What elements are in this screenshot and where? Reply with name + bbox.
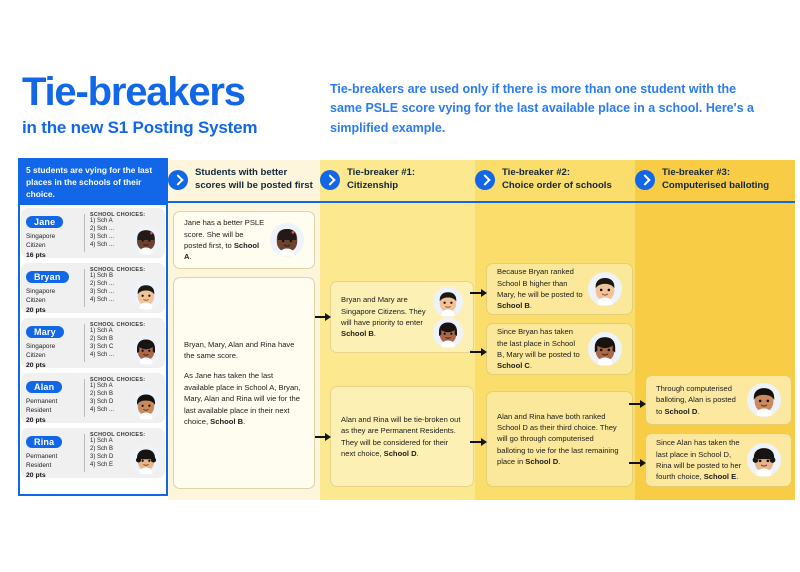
- student-identity: Mary Singapore Citizen 20 pts: [26, 322, 84, 364]
- arrow-shaft: [470, 441, 481, 442]
- box-rina-school-e: Since Alan has taken the last place in S…: [645, 433, 792, 487]
- text-segment: .: [530, 361, 532, 370]
- text-segment: Since Bryan has taken the last place in …: [497, 327, 580, 359]
- arrow-head: [640, 459, 646, 467]
- student-status-line1: Singapore: [26, 343, 55, 350]
- column-header-3-line2: Choice order of schools: [502, 180, 612, 191]
- student-name-badge: Mary: [26, 326, 64, 338]
- text-segment: .: [697, 407, 699, 416]
- box-mary-school-c: Since Bryan has taken the last place in …: [486, 323, 633, 375]
- avatar-rina: [747, 443, 781, 477]
- box-citizens-priority-text: Bryan and Mary are Singapore Citizens. T…: [341, 294, 429, 340]
- chevron-right-icon: [635, 170, 655, 190]
- arrow-shaft: [629, 462, 640, 463]
- divider: [84, 214, 85, 252]
- student-status-line1: Permanent: [26, 398, 57, 405]
- arrow-head: [325, 313, 331, 321]
- arrow-shaft: [315, 436, 325, 437]
- divider: [84, 269, 85, 307]
- student-status: Singapore Citizen: [26, 343, 84, 360]
- text-segment: .: [736, 472, 738, 481]
- student-points: 20 pts: [26, 307, 84, 314]
- avatar-jane: [270, 223, 304, 257]
- box-bryan-school-b: Because Bryan ranked School B higher tha…: [486, 263, 633, 315]
- column-header-1: Students with better scores will be post…: [168, 163, 320, 197]
- student-status-line2: Citizen: [26, 297, 46, 304]
- school-highlight: School E: [704, 472, 737, 481]
- text-segment: .: [374, 329, 376, 338]
- box-bryan-school-b-text: Because Bryan ranked School B higher tha…: [497, 266, 584, 312]
- box-same-score: Bryan, Mary, Alan and Rina have the same…: [173, 277, 315, 489]
- student-choices: SCHOOL CHOICES: 1) Sch A 2) Sch B 3) Sch…: [90, 432, 160, 474]
- text-segment: .: [189, 252, 191, 261]
- avatar-mary: [588, 332, 622, 366]
- student-name-badge: Jane: [26, 216, 63, 228]
- column-header-4-label: Tie-breaker #3: Computerised balloting: [662, 167, 769, 193]
- avatar-rina: [131, 445, 161, 475]
- column-header-4: Tie-breaker #3: Computerised balloting: [635, 163, 795, 197]
- school-highlight: School C: [497, 361, 530, 370]
- student-status: Singapore Citizen: [26, 288, 84, 305]
- student-points: 20 pts: [26, 417, 84, 424]
- column-header-2-line1: Tie-breaker #1:: [347, 167, 415, 178]
- arrow-shaft: [470, 351, 481, 352]
- student-status-line2: Citizen: [26, 352, 46, 359]
- school-highlight: School D: [525, 457, 558, 466]
- arrow-head: [325, 433, 331, 441]
- student-card-rina: Rina Permanent Resident 20 pts SCHOOL CH…: [21, 428, 165, 478]
- divider: [84, 434, 85, 472]
- student-choices: SCHOOL CHOICES: 1) Sch B 2) Sch ... 3) S…: [90, 267, 160, 309]
- student-identity: Bryan Singapore Citizen 20 pts: [26, 267, 84, 309]
- student-name-badge: Bryan: [26, 271, 69, 283]
- box-mary-school-c-text: Since Bryan has taken the last place in …: [497, 326, 584, 372]
- student-choices: SCHOOL CHOICES: 1) Sch A 2) Sch B 3) Sch…: [90, 377, 160, 419]
- student-identity: Jane Singapore Citizen 16 pts: [26, 212, 84, 254]
- student-card-bryan: Bryan Singapore Citizen 20 pts SCHOOL CH…: [21, 263, 165, 313]
- column-header-3-label: Tie-breaker #2: Choice order of schools: [502, 167, 612, 193]
- box-citizens-priority: Bryan and Mary are Singapore Citizens. T…: [330, 281, 474, 353]
- student-card-alan: Alan Permanent Resident 20 pts SCHOOL CH…: [21, 373, 165, 423]
- column-header-1-line1: Students with better: [195, 167, 287, 178]
- column-header-3-line1: Tie-breaker #2:: [502, 167, 570, 178]
- student-choices: SCHOOL CHOICES: 1) Sch A 2) Sch B 3) Sch…: [90, 322, 160, 364]
- student-name-badge: Alan: [26, 381, 62, 393]
- column-header-2-label: Tie-breaker #1: Citizenship: [347, 167, 415, 193]
- school-highlight: School D: [664, 407, 697, 416]
- avatar-alan: [131, 390, 161, 420]
- paragraph-same-score: Bryan, Mary, Alan and Rina have the same…: [184, 339, 304, 362]
- text-segment: .: [417, 449, 419, 458]
- student-points: 20 pts: [26, 362, 84, 369]
- student-status-line2: Resident: [26, 462, 51, 469]
- arrow-head: [481, 289, 487, 297]
- students-callout: 5 students are vying for the last places…: [18, 158, 168, 205]
- student-card-mary: Mary Singapore Citizen 20 pts SCHOOL CHO…: [21, 318, 165, 368]
- student-status-line1: Permanent: [26, 453, 57, 460]
- column-header-3: Tie-breaker #2: Choice order of schools: [475, 163, 635, 197]
- arrow-head: [481, 348, 487, 356]
- divider: [84, 379, 85, 417]
- student-status-line1: Singapore: [26, 288, 55, 295]
- chevron-right-icon: [320, 170, 340, 190]
- infographic-page: Tie-breakers in the new S1 Posting Syste…: [0, 0, 800, 572]
- box-jane-posted-text: Jane has a better PSLE score. She will b…: [184, 217, 266, 263]
- column-header-2: Tie-breaker #1: Citizenship: [320, 163, 475, 197]
- student-identity: Rina Permanent Resident 20 pts: [26, 432, 84, 474]
- box-alan-school-d: Through computerised balloting, Alan is …: [645, 375, 792, 425]
- avatar-bryan: [131, 280, 161, 310]
- box-rina-school-e-text: Since Alan has taken the last place in S…: [656, 437, 743, 483]
- column-header-1-line2: scores will be posted first: [195, 180, 313, 191]
- arrow-to-mary-c: [470, 347, 487, 357]
- arrow-to-alan-d: [629, 399, 646, 409]
- student-card-jane: Jane Singapore Citizen 16 pts SCHOOL CHO…: [21, 208, 165, 258]
- avatar-alan: [747, 383, 781, 417]
- student-choices: SCHOOL CHOICES: 1) Sch A 2) Sch ... 3) S…: [90, 212, 160, 254]
- student-status-line1: Singapore: [26, 233, 55, 240]
- box-balloting-school-d: Alan and Rina have both ranked School D …: [486, 391, 633, 487]
- arrow-to-bryan-b: [470, 288, 487, 298]
- school-highlight: School B: [497, 301, 530, 310]
- arrow-to-rina-e: [629, 458, 646, 468]
- arrow-head: [481, 438, 487, 446]
- student-name-badge: Rina: [26, 436, 62, 448]
- student-identity: Alan Permanent Resident 20 pts: [26, 377, 84, 419]
- divider: [84, 324, 85, 362]
- column-header-2-line2: Citizenship: [347, 180, 398, 191]
- arrow-head: [640, 400, 646, 408]
- text-segment: Bryan and Mary are Singapore Citizens. T…: [341, 295, 426, 327]
- student-card-list: Jane Singapore Citizen 16 pts SCHOOL CHO…: [21, 208, 165, 483]
- school-highlight: School B: [210, 417, 243, 426]
- text-segment: Because Bryan ranked School B higher tha…: [497, 267, 583, 299]
- chevron-right-icon: [168, 170, 188, 190]
- avatar-bryan: [588, 272, 622, 306]
- title-block: Tie-breakers in the new S1 Posting Syste…: [22, 72, 322, 138]
- school-highlight: School B: [341, 329, 374, 338]
- box-same-score-text: Bryan, Mary, Alan and Rina have the same…: [184, 339, 304, 428]
- arrow-to-balloting: [470, 437, 487, 447]
- student-status-line2: Resident: [26, 407, 51, 414]
- column-header-4-line1: Tie-breaker #3:: [662, 167, 730, 178]
- avatar-bryan: [433, 287, 463, 317]
- box-jane-posted: Jane has a better PSLE score. She will b…: [173, 211, 315, 269]
- intro-paragraph: Tie-breakers are used only if there is m…: [330, 80, 770, 138]
- header-divider-rule: [168, 201, 795, 203]
- arrow-shaft: [629, 403, 640, 404]
- student-status-line2: Citizen: [26, 242, 46, 249]
- text-segment: .: [558, 457, 560, 466]
- avatar-jane: [131, 225, 161, 255]
- student-status: Permanent Resident: [26, 398, 84, 415]
- box-balloting-school-d-text: Alan and Rina have both ranked School D …: [497, 411, 622, 468]
- text-segment: .: [243, 417, 245, 426]
- avatar-pair-bryan-mary: [433, 287, 463, 348]
- student-points: 20 pts: [26, 472, 84, 479]
- arrow-to-pr: [315, 432, 331, 442]
- student-points: 16 pts: [26, 252, 84, 259]
- box-pr-tiebroken: Alan and Rina will be tie-broken out as …: [330, 386, 474, 487]
- text-segment: .: [530, 301, 532, 310]
- arrow-shaft: [470, 292, 481, 293]
- column-header-1-label: Students with better scores will be post…: [195, 167, 313, 193]
- school-highlight: School D: [384, 449, 417, 458]
- student-status: Singapore Citizen: [26, 233, 84, 250]
- box-pr-tiebroken-text: Alan and Rina will be tie-broken out as …: [341, 414, 463, 460]
- page-title: Tie-breakers: [22, 72, 322, 112]
- chevron-right-icon: [475, 170, 495, 190]
- avatar-mary: [131, 335, 161, 365]
- box-alan-school-d-text: Through computerised balloting, Alan is …: [656, 383, 743, 417]
- arrow-to-citizens: [315, 312, 331, 322]
- column-header-4-line2: Computerised balloting: [662, 180, 769, 191]
- avatar-mary: [433, 318, 463, 348]
- student-status: Permanent Resident: [26, 453, 84, 470]
- arrow-shaft: [315, 316, 325, 317]
- page-subtitle: in the new S1 Posting System: [22, 118, 322, 138]
